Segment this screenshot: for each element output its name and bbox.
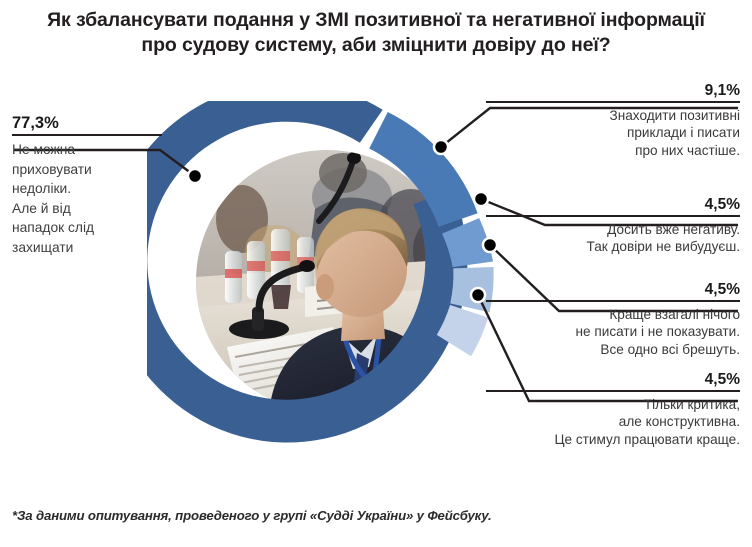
callout-r3-percent: 4,5% — [486, 281, 740, 298]
callout-r3-rule — [486, 300, 740, 302]
callout-r2-text: Досить вже негативу. Так довіри не вибуд… — [486, 221, 740, 256]
callout-left-rule — [12, 134, 162, 136]
callout-r1-text: Знаходити позитивні приклади і писати пр… — [486, 107, 740, 159]
callout-r4-percent: 4,5% — [486, 371, 740, 388]
callout-r4-text: Тільки критика, але конструктивна. Це ст… — [486, 396, 740, 448]
callout-r4-rule — [486, 390, 740, 392]
callout-right-1: 9,1% Знаходити позитивні приклади і писа… — [486, 82, 740, 159]
footnote: *За даними опитування, проведеного у гру… — [12, 508, 492, 523]
infographic-root: Як збалансувати подання у ЗМІ позитивної… — [0, 0, 752, 547]
title-line-1: Як збалансувати подання у ЗМІ позитивної… — [47, 9, 705, 31]
callout-left-text: Не можна приховувати недоліки. Але й від… — [12, 140, 172, 258]
callout-left-percent: 77,3% — [12, 115, 172, 132]
donut-chart — [147, 101, 507, 461]
donut-chart-svg — [147, 101, 507, 461]
callout-r2-percent: 4,5% — [486, 196, 740, 213]
callout-r1-rule — [486, 101, 740, 103]
callout-left: 77,3% Не можна приховувати недоліки. Але… — [12, 115, 172, 258]
callout-right-2: 4,5% Досить вже негативу. Так довіри не … — [486, 196, 740, 256]
callout-r2-rule — [486, 215, 740, 217]
callout-r1-percent: 9,1% — [486, 82, 740, 99]
title-line-2: про судову систему, аби зміцнити довіру … — [14, 33, 738, 58]
callout-right-3: 4,5% Краще взагалі нічого не писати і не… — [486, 281, 740, 358]
page-title: Як збалансувати подання у ЗМІ позитивної… — [0, 8, 752, 58]
callout-r3-text: Краще взагалі нічого не писати і не пока… — [486, 306, 740, 358]
callout-right-4: 4,5% Тільки критика, але конструктивна. … — [486, 371, 740, 448]
